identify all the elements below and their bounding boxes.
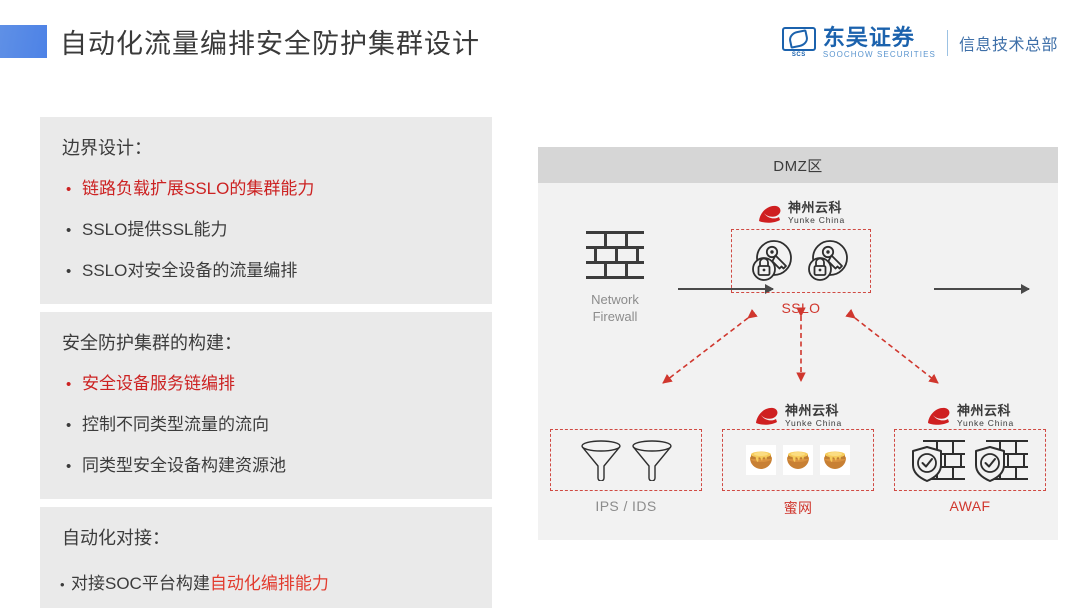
node-ips-ids: IPS / IDS (550, 405, 702, 518)
funnel-icon (579, 439, 623, 481)
vendor-name-en: Yunke China (788, 215, 845, 226)
soochow-logo-mark-text: SCS (782, 52, 816, 59)
vendor-name-cn: 神州云科 (957, 404, 1014, 418)
department-label: 信息技术总部 (959, 31, 1058, 55)
list-item: • SSLO对安全设备的流量编排 (40, 251, 492, 292)
page-title: 自动化流量编排安全防护集群设计 (60, 22, 480, 61)
content-panels: 边界设计： • 链路负载扩展SSLO的集群能力 • SSLO提供SSL能力 • … (40, 117, 492, 608)
panel-security-cluster: 安全防护集群的构建： • 安全设备服务链编排 • 控制不同类型流量的流向 • 同… (40, 312, 492, 499)
vendor-name-en: Yunke China (957, 418, 1014, 429)
list-item-label: 同类型安全设备构建资源池 (82, 451, 286, 481)
list-item: • 对接SOC平台构建自动化编排能力 (40, 567, 492, 604)
slide: 自动化流量编排安全防护集群设计 SCS 东吴证券 SOOCHOW SECURIT… (0, 0, 1080, 608)
brand-text: 东吴证券 SOOCHOW SECURITIES (823, 27, 936, 60)
list-item: • 链路负载扩展SSLO的集群能力 (40, 169, 492, 210)
outbound-arrow-icon (934, 288, 1029, 290)
company-logo: SCS 东吴证券 SOOCHOW SECURITIES 信息技术总部 (782, 24, 1058, 62)
vendor-name-cn: 神州云科 (788, 201, 845, 215)
panel-automation: 自动化对接： • 对接SOC平台构建自动化编排能力 (40, 507, 492, 608)
shield-wall-icon (974, 438, 1030, 482)
node-label: 蜜网 (722, 498, 874, 518)
list-item-label: 链路负载扩展SSLO的集群能力 (82, 174, 314, 204)
architecture-diagram: DMZ区 Network (538, 147, 1058, 540)
list-item-label: SSLO提供SSL能力 (82, 215, 228, 245)
shield-wall-icon (911, 438, 967, 482)
panel-boundary-design: 边界设计： • 链路负载扩展SSLO的集群能力 • SSLO提供SSL能力 • … (40, 117, 492, 304)
honeynet-group-box (722, 429, 874, 491)
key-lock-icon (804, 236, 854, 286)
list-item: • 同类型安全设备构建资源池 (40, 446, 492, 487)
firewall-label-line2: Firewall (560, 308, 670, 325)
title-accent-bar (0, 25, 47, 58)
node-awaf: 神州云科 Yunke China (894, 405, 1046, 518)
node-label: SSLO (731, 300, 871, 316)
list-item-highlight: 自动化编排能力 (210, 574, 329, 593)
yunke-swoosh-icon (757, 204, 783, 224)
logo-spacer (550, 405, 702, 427)
honey-pot-icon (783, 445, 813, 475)
panel-heading: 安全防护集群的构建： (40, 326, 492, 364)
brand-name-en: SOOCHOW SECURITIES (823, 50, 936, 60)
node-label: IPS / IDS (550, 498, 702, 514)
list-item: • SSLO提供SSL能力 (40, 210, 492, 251)
node-honeynet: 神州云科 Yunke China (722, 405, 874, 518)
honey-pot-icon (820, 445, 850, 475)
yunke-swoosh-icon (926, 406, 952, 426)
panel-heading: 自动化对接： (40, 521, 492, 567)
bullet-marker: • (66, 216, 82, 246)
diagram-body: Network Firewall 神州云科 (538, 183, 1058, 540)
bullet-marker: • (66, 370, 82, 400)
vendor-name-cn: 神州云科 (785, 404, 842, 418)
key-lock-icon (748, 236, 798, 286)
node-label: AWAF (894, 498, 1046, 514)
vendor-name-en: Yunke China (785, 418, 842, 429)
bullet-marker: • (66, 411, 82, 441)
brand-name-cn: 东吴证券 (823, 27, 936, 49)
list-item-label: 安全设备服务链编排 (82, 369, 235, 399)
list-item: • 控制不同类型流量的流向 (40, 405, 492, 446)
bullet-marker: • (66, 257, 82, 287)
awaf-group-box (894, 429, 1046, 491)
vendor-logo: 神州云科 Yunke China (722, 405, 874, 427)
list-item-label: 对接SOC平台构建自动化编排能力 (71, 569, 329, 599)
vendor-logo: 神州云科 Yunke China (894, 405, 1046, 427)
list-item-label: 控制不同类型流量的流向 (82, 410, 269, 440)
vendor-logo: 神州云科 Yunke China (731, 201, 871, 226)
honey-pot-icon (746, 445, 776, 475)
node-label: Network Firewall (560, 291, 670, 325)
security-device-row: IPS / IDS 神州云科 Yunke China (550, 405, 1046, 518)
funnel-icon (630, 439, 674, 481)
bullet-marker: • (60, 570, 71, 600)
bullet-marker: • (66, 175, 82, 205)
panel-heading: 边界设计： (40, 131, 492, 169)
soochow-logo-icon: SCS (782, 27, 816, 59)
dmz-zone-header: DMZ区 (538, 147, 1058, 183)
brand-divider (947, 30, 948, 56)
node-network-firewall: Network Firewall (560, 231, 670, 325)
ips-ids-group-box (550, 429, 702, 491)
yunke-swoosh-icon (754, 406, 780, 426)
sslo-group-box (731, 229, 871, 293)
firewall-label-line1: Network (560, 291, 670, 308)
list-item: • 安全设备服务链编排 (40, 364, 492, 405)
node-sslo: 神州云科 Yunke China (731, 201, 871, 316)
brick-wall-icon (586, 231, 644, 279)
list-item-label: SSLO对安全设备的流量编排 (82, 256, 297, 286)
bullet-marker: • (66, 452, 82, 482)
